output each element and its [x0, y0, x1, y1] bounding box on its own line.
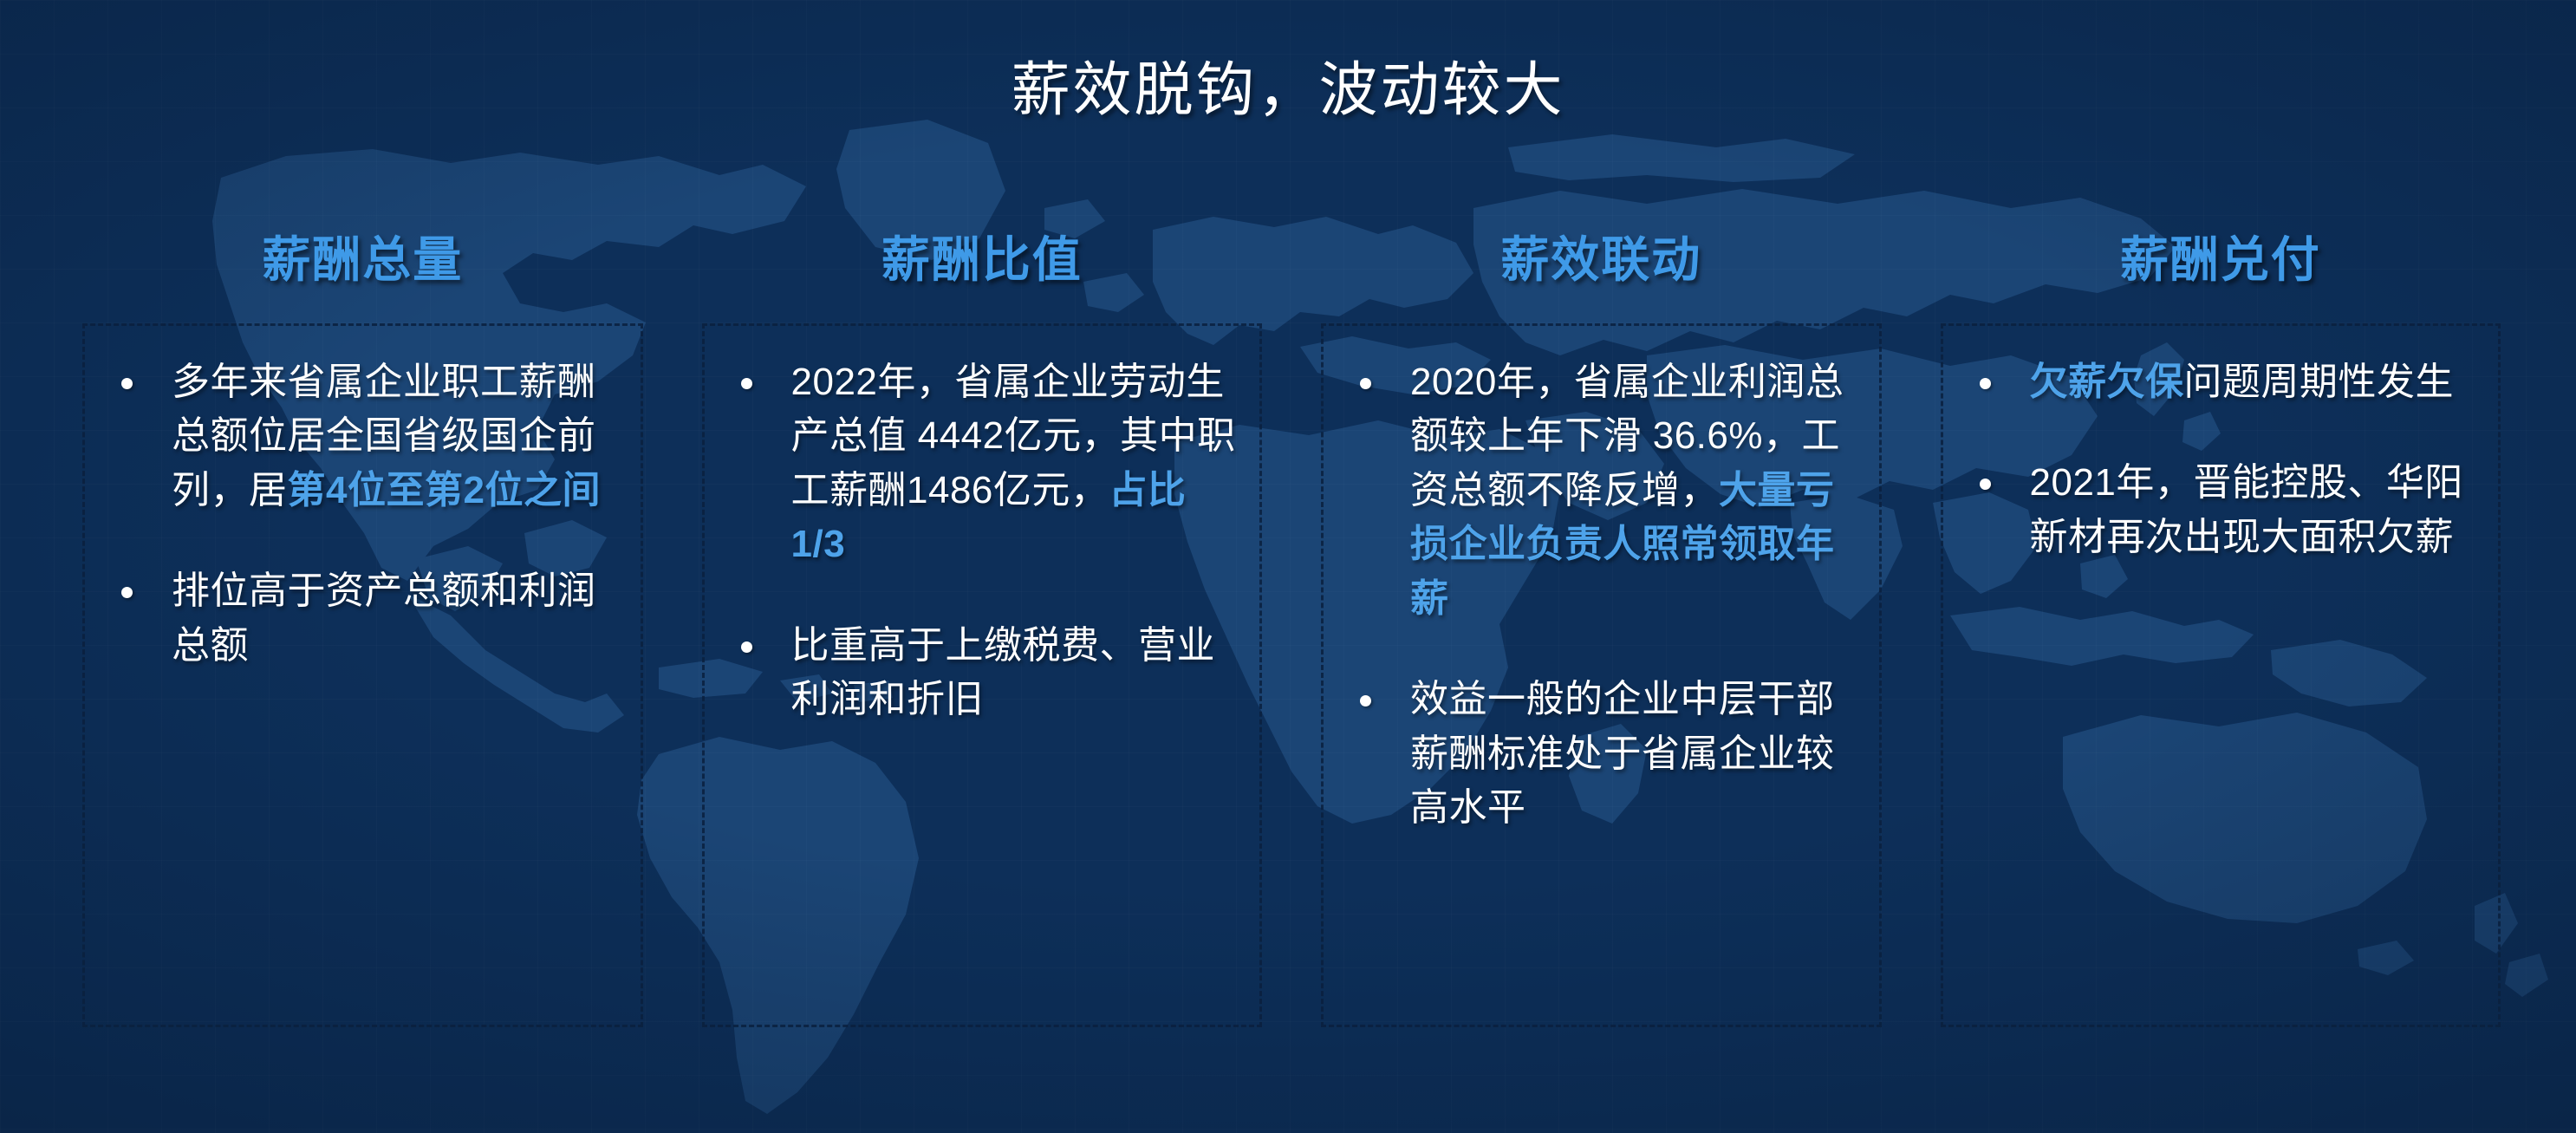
column-header-salary-payment: 薪酬兑付	[1941, 221, 2501, 323]
bullet-dot-icon	[1980, 479, 1991, 490]
list-item: 多年来省属企业职工薪酬总额位居全国省级国企前列，居第4位至第2位之间	[107, 355, 618, 518]
page-title: 薪效脱钩，波动较大	[0, 42, 2576, 127]
bullet-text-highlight: 欠薪欠保	[2030, 361, 2184, 403]
bullet-dot-icon	[121, 587, 133, 598]
bullet-text-plain: 效益一般的企业中层干部薪酬标准处于省属企业较高水平	[1410, 678, 1835, 829]
list-item: 排位高于资产总额和利润总额	[107, 564, 618, 673]
column-body-salary-payment: 欠薪欠保问题周期性发生 2021年，晋能控股、华阳新材再次出现大面积欠薪	[1941, 323, 2501, 1027]
bullet-text-plain: 问题周期性发生	[2184, 361, 2455, 403]
column-header-salary-ratio: 薪酬比值	[702, 221, 1263, 323]
bullet-list-salary-ratio: 2022年，省属企业劳动生产总值 4442亿元，其中职工薪酬1486亿元，占比1…	[727, 355, 1238, 727]
columns-container: 薪酬总量 多年来省属企业职工薪酬总额位居全国省级国企前列，居第4位至第2位之间 …	[82, 221, 2501, 1027]
bullet-list-pay-performance-link: 2020年，省属企业利润总额较上年下滑 36.6%，工资总额不降反增，大量亏损企…	[1346, 355, 1857, 836]
bullet-text-plain: 排位高于资产总额和利润总额	[172, 570, 596, 666]
list-item: 2022年，省属企业劳动生产总值 4442亿元，其中职工薪酬1486亿元，占比1…	[727, 355, 1238, 572]
slide-canvas: 薪效脱钩，波动较大 薪酬总量 多年来省属企业职工薪酬总额位居全国省级国企前列，居…	[0, 0, 2576, 1133]
list-item: 欠薪欠保问题周期性发生	[1966, 355, 2476, 409]
column-salary-total: 薪酬总量 多年来省属企业职工薪酬总额位居全国省级国企前列，居第4位至第2位之间 …	[82, 221, 643, 1027]
bullet-dot-icon	[741, 641, 752, 653]
column-salary-ratio: 薪酬比值 2022年，省属企业劳动生产总值 4442亿元，其中职工薪酬1486亿…	[702, 221, 1263, 1027]
bullet-dot-icon	[1360, 378, 1371, 389]
bullet-dot-icon	[741, 378, 752, 389]
bullet-dot-icon	[1360, 695, 1371, 706]
list-item: 比重高于上缴税费、营业利润和折旧	[727, 619, 1238, 727]
column-pay-performance-link: 薪效联动 2020年，省属企业利润总额较上年下滑 36.6%，工资总额不降反增，…	[1321, 221, 1882, 1027]
bullet-text-plain: 比重高于上缴税费、营业利润和折旧	[791, 624, 1216, 720]
bullet-dot-icon	[1980, 378, 1991, 389]
column-header-salary-total: 薪酬总量	[82, 221, 643, 323]
bullet-dot-icon	[121, 378, 133, 389]
list-item: 2020年，省属企业利润总额较上年下滑 36.6%，工资总额不降反增，大量亏损企…	[1346, 355, 1857, 626]
list-item: 2021年，晋能控股、华阳新材再次出现大面积欠薪	[1966, 456, 2476, 564]
column-body-salary-total: 多年来省属企业职工薪酬总额位居全国省级国企前列，居第4位至第2位之间 排位高于资…	[82, 323, 643, 1027]
bullet-text-plain: 2021年，晋能控股、华阳新材再次出现大面积欠薪	[2030, 461, 2463, 557]
column-body-salary-ratio: 2022年，省属企业劳动生产总值 4442亿元，其中职工薪酬1486亿元，占比1…	[702, 323, 1263, 1027]
column-salary-payment: 薪酬兑付 欠薪欠保问题周期性发生 2021年，晋能控股、华阳新材再次出现大面积欠…	[1941, 221, 2501, 1027]
bullet-text-highlight: 第4位至第2位之间	[288, 469, 601, 511]
column-header-pay-performance-link: 薪效联动	[1321, 221, 1882, 323]
bullet-list-salary-total: 多年来省属企业职工薪酬总额位居全国省级国企前列，居第4位至第2位之间 排位高于资…	[107, 355, 618, 673]
list-item: 效益一般的企业中层干部薪酬标准处于省属企业较高水平	[1346, 673, 1857, 835]
column-body-pay-performance-link: 2020年，省属企业利润总额较上年下滑 36.6%，工资总额不降反增，大量亏损企…	[1321, 323, 1882, 1027]
bullet-list-salary-payment: 欠薪欠保问题周期性发生 2021年，晋能控股、华阳新材再次出现大面积欠薪	[1966, 355, 2476, 564]
